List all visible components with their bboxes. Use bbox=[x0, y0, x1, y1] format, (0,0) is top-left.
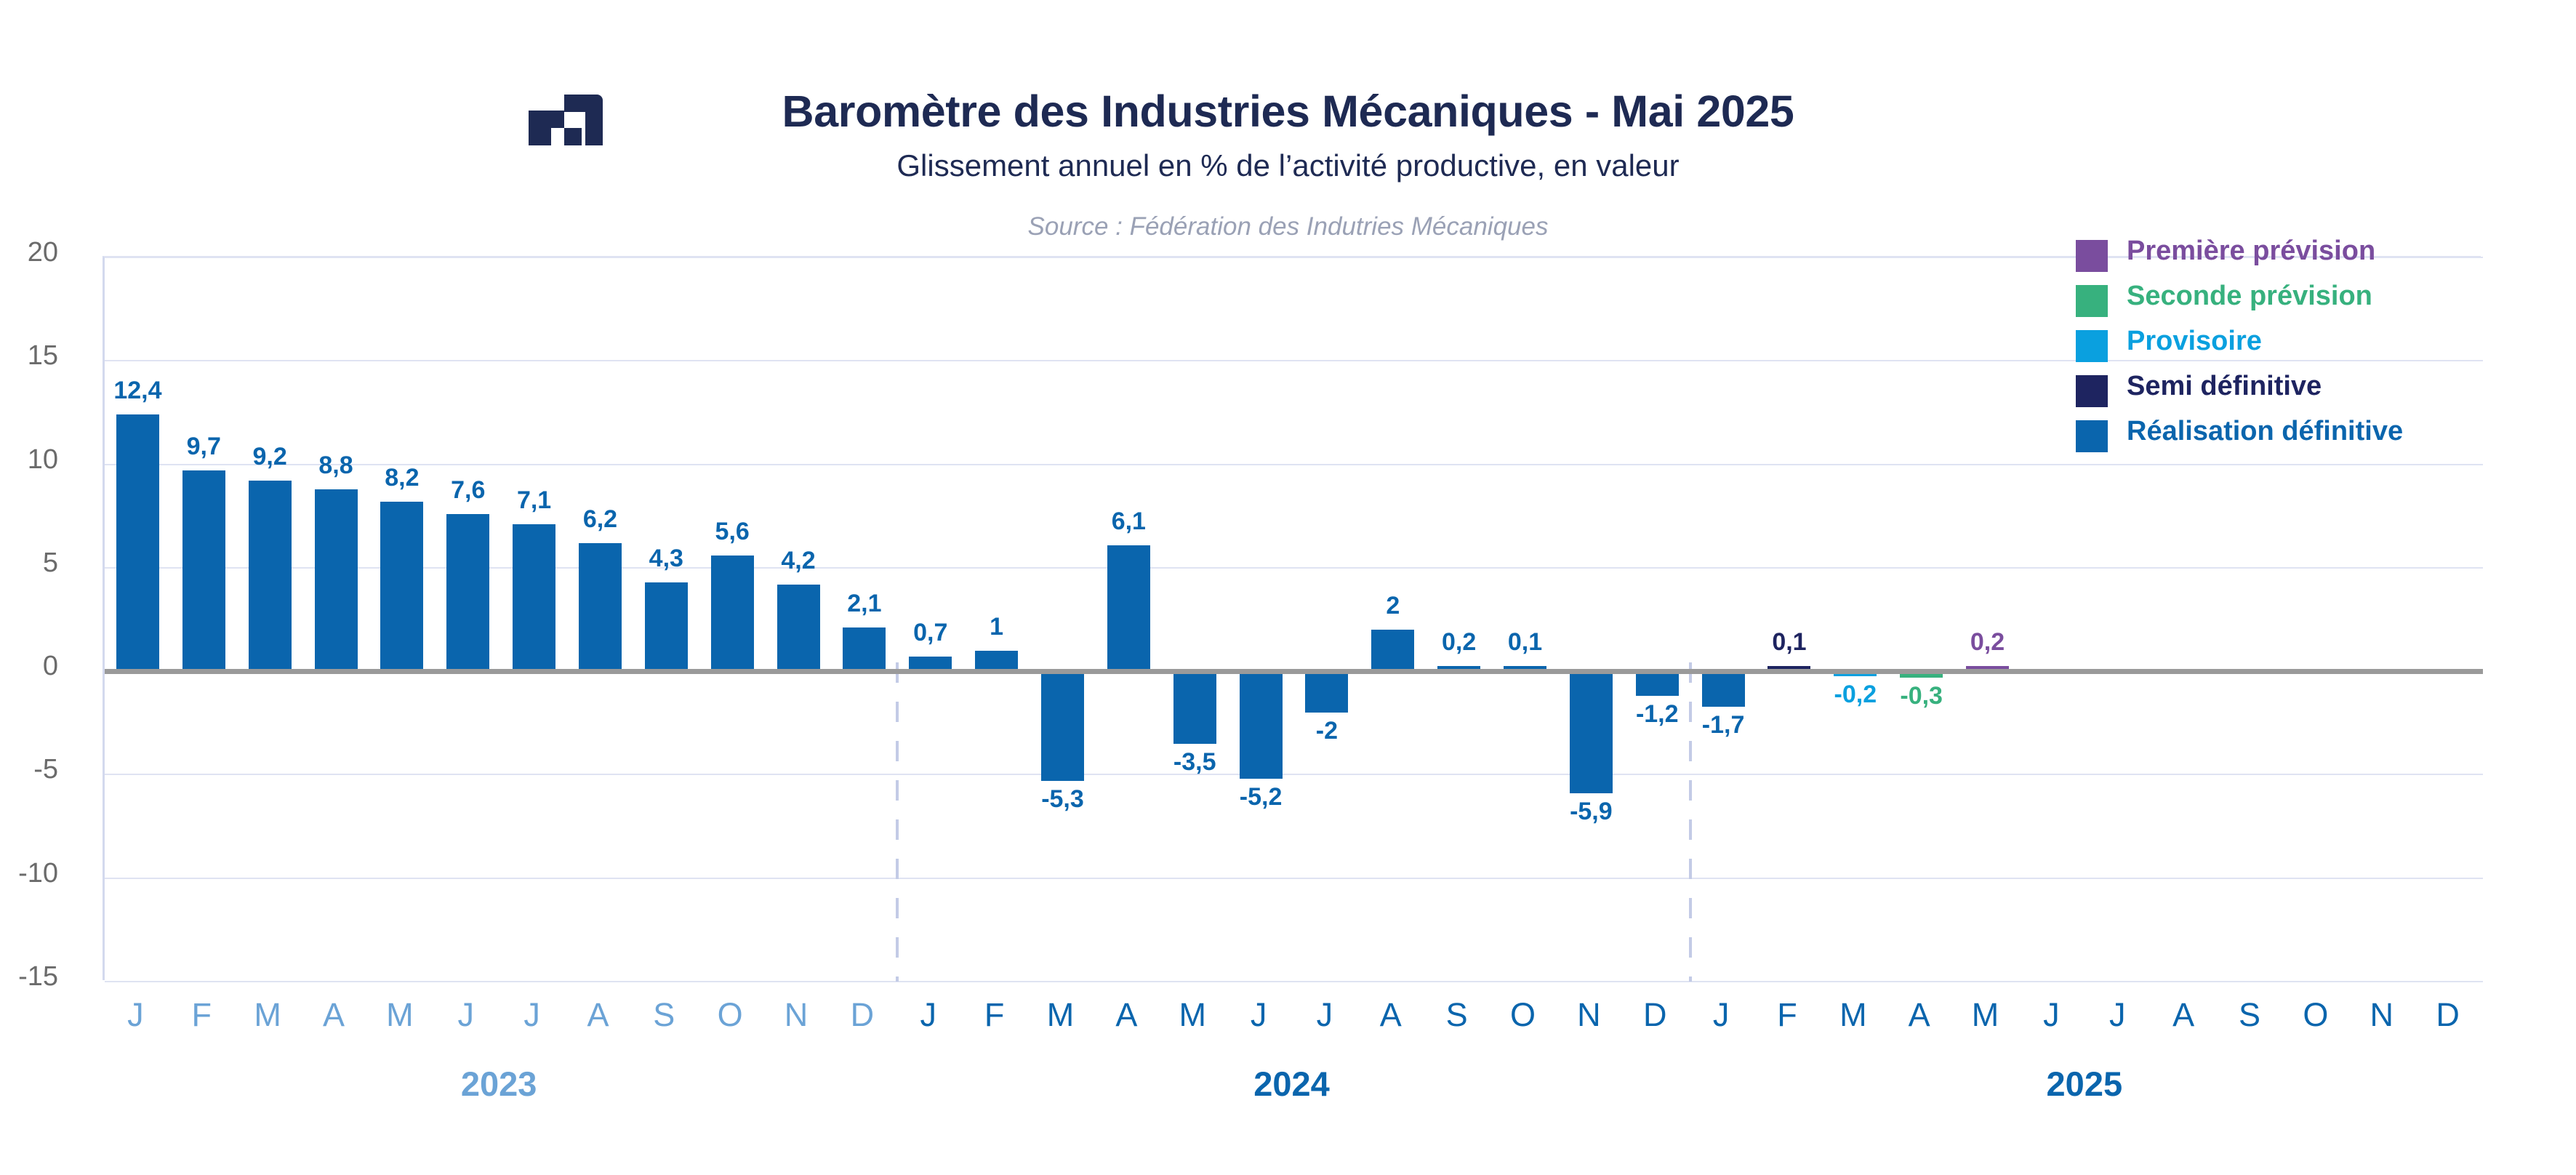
chart-header: Baromètre des Industries Mécaniques - Ma… bbox=[0, 0, 2576, 218]
bar-label: -0,3 bbox=[1856, 682, 1987, 710]
bar-label: -5,2 bbox=[1195, 783, 1326, 811]
legend-label: Semi définitive bbox=[2127, 371, 2322, 402]
bar-label: 4,2 bbox=[733, 547, 864, 575]
legend-swatch-icon bbox=[2076, 330, 2108, 362]
y-tick-label: -5 bbox=[0, 754, 58, 785]
bar-label: 4,3 bbox=[601, 545, 731, 573]
bar-2024-n-22[interactable] bbox=[1570, 671, 1613, 793]
bar-label: 2 bbox=[1328, 592, 1458, 620]
gridline bbox=[105, 981, 2483, 982]
bar-label: -5,3 bbox=[997, 785, 1128, 814]
legend-swatch-icon bbox=[2076, 420, 2108, 452]
bar-label: 0,2 bbox=[1922, 628, 2053, 657]
bar-label: -5,9 bbox=[1525, 798, 1656, 826]
bar-2024-a-15[interactable] bbox=[1107, 545, 1150, 672]
year-separator bbox=[896, 662, 899, 982]
bar-2023-s-8[interactable] bbox=[645, 582, 688, 671]
bar-2023-j-6[interactable] bbox=[513, 524, 555, 671]
bar-2023-f-1[interactable] bbox=[182, 470, 225, 671]
bar-label: 0,1 bbox=[1460, 628, 1591, 657]
year-label-2025: 2025 bbox=[1975, 1064, 2194, 1104]
legend-swatch-icon bbox=[2076, 285, 2108, 317]
y-tick-label: 10 bbox=[0, 444, 58, 476]
gridline bbox=[105, 774, 2483, 775]
bar-label: 0,1 bbox=[1724, 628, 1855, 657]
bar-label: 6,1 bbox=[1063, 508, 1194, 536]
bar-2024-f-13[interactable] bbox=[975, 651, 1018, 671]
bar-2024-d-23[interactable] bbox=[1636, 671, 1679, 696]
y-tick-label: 0 bbox=[0, 651, 58, 682]
bar-label: -1,7 bbox=[1658, 711, 1789, 739]
bar-2023-m-4[interactable] bbox=[380, 502, 423, 671]
legend-swatch-icon bbox=[2076, 240, 2108, 272]
chart-subtitle: Glissement annuel en % de l’activité pro… bbox=[0, 148, 2576, 183]
bar-2024-m-14[interactable] bbox=[1041, 671, 1084, 781]
year-label-2024: 2024 bbox=[1183, 1064, 1401, 1104]
bar-2023-a-3[interactable] bbox=[315, 489, 358, 671]
legend-label: Seconde prévision bbox=[2127, 281, 2372, 312]
bar-2024-m-16[interactable] bbox=[1173, 671, 1216, 744]
y-tick-label: 15 bbox=[0, 340, 58, 372]
page-title: Baromètre des Industries Mécaniques - Ma… bbox=[0, 86, 2576, 137]
gridline bbox=[105, 878, 2483, 879]
y-tick-label: -10 bbox=[0, 858, 58, 889]
legend-label: Provisoire bbox=[2127, 326, 2262, 357]
bar-2024-j-18[interactable] bbox=[1305, 671, 1348, 713]
bar-label: 1 bbox=[931, 613, 1062, 641]
bar-label: -2 bbox=[1261, 717, 1392, 745]
y-tick-label: -15 bbox=[0, 961, 58, 992]
bar-2023-j-5[interactable] bbox=[446, 514, 489, 671]
bar-label: 5,6 bbox=[667, 518, 798, 546]
bar-label: 2,1 bbox=[799, 590, 930, 618]
bar-label: -3,5 bbox=[1129, 748, 1260, 777]
year-label-2023: 2023 bbox=[390, 1064, 608, 1104]
plot-area: 12,49,79,28,88,27,67,16,24,35,64,22,10,7… bbox=[103, 256, 2481, 980]
legend-swatch-icon bbox=[2076, 375, 2108, 407]
y-tick-label: 20 bbox=[0, 237, 58, 268]
bar-label: 6,2 bbox=[534, 505, 665, 534]
gridline bbox=[105, 360, 2483, 361]
legend-label: Première prévision bbox=[2127, 236, 2375, 267]
x-tick-label-2025-35: D bbox=[2404, 996, 2492, 1034]
zero-line bbox=[105, 669, 2483, 674]
bar-label: 12,4 bbox=[72, 377, 203, 405]
bar-2023-m-2[interactable] bbox=[249, 481, 292, 671]
y-tick-label: 5 bbox=[0, 548, 58, 579]
legend-label: Réalisation définitive bbox=[2127, 416, 2403, 447]
